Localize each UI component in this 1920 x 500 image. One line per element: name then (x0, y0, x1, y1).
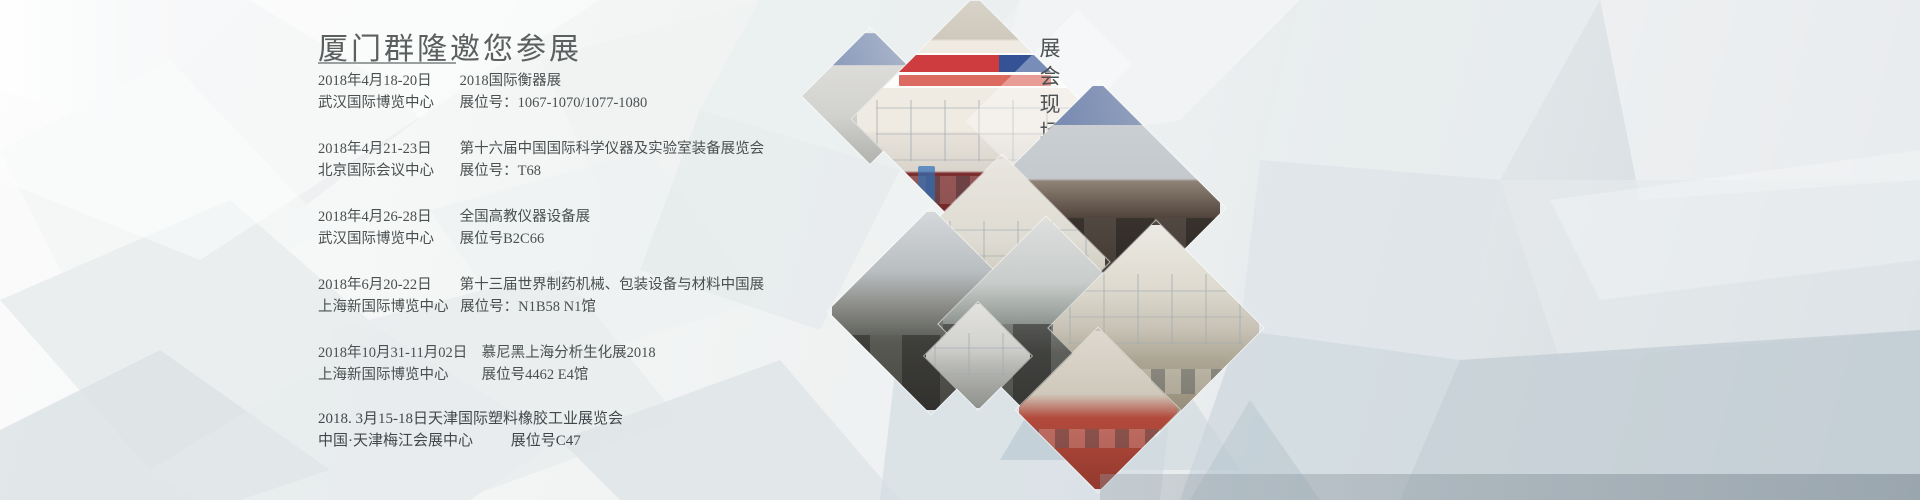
event-venue: 中国·天津梅江会展中心 (318, 430, 473, 452)
bottom-accent-strip (1100, 474, 1920, 500)
blue-panel (918, 166, 935, 204)
event-venue: 武汉国际博览中心 (318, 92, 448, 114)
event-venue: 北京国际会议中心 (318, 160, 448, 182)
event-name: 2018国际衡器展 (452, 70, 562, 92)
title-underline (318, 62, 456, 64)
event-booth: 展位号：N1B58 N1馆 (452, 296, 596, 318)
event-name: 第十六届中国国际科学仪器及实验室装备展览会 (452, 138, 765, 160)
photo-collage: 展会现场 (830, 0, 1250, 500)
event-name: 第十三届世界制药机械、包装设备与材料中国展 (452, 274, 765, 296)
event-booth: 展位号：T68 (452, 160, 541, 182)
event-venue: 武汉国际博览中心 (318, 228, 448, 250)
event-venue: 上海新国际博览中心 (318, 296, 449, 318)
event-booth: 展位号C47 (477, 430, 581, 452)
event-date: 2018. 3月15-18日天津国际塑料橡胶工业展览会 (318, 408, 623, 430)
event-booth: 展位号B2C66 (452, 228, 545, 250)
event-date: 2018年6月20-22日 (318, 274, 448, 296)
event-name: 全国高教仪器设备展 (452, 206, 591, 228)
event-name: 慕尼黑上海分析生化展2018 (474, 342, 656, 364)
event-booth: 展位号4462 E4馆 (474, 364, 589, 386)
event-booth: 展位号：1067-1070/1077-1080 (452, 92, 648, 114)
event-date: 2018年4月21-23日 (318, 138, 448, 160)
banner-stage: 厦门群隆邀您参展 2018年4月18-20日 2018国际衡器展 武汉国际博览中… (0, 0, 1920, 500)
event-date: 2018年4月18-20日 (318, 70, 448, 92)
event-date: 2018年10月31-11月02日 (318, 342, 470, 364)
event-date: 2018年4月26-28日 (318, 206, 448, 228)
small-panel (934, 333, 1021, 375)
event-venue: 上海新国际博览中心 (318, 364, 470, 386)
red-table (1025, 429, 1170, 448)
